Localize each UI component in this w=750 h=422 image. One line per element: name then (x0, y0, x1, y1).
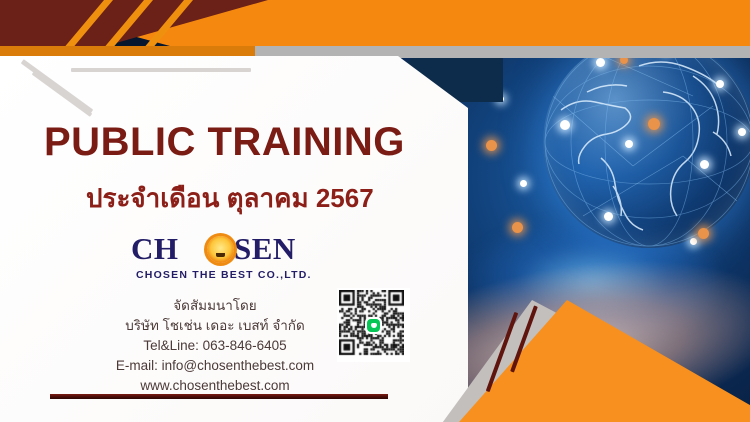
company-logo: CH SEN CHOSEN THE BEST CO.,LTD. (131, 231, 326, 287)
top-orange-underline (0, 46, 272, 57)
qr-center-badge (365, 317, 382, 334)
logo-tagline: CHOSEN THE BEST CO.,LTD. (136, 269, 312, 281)
lightbulb-icon (207, 236, 234, 263)
bottom-divider (50, 394, 388, 399)
logo-wordmark-left: CH (131, 231, 179, 267)
line-qr-code[interactable] (337, 288, 410, 362)
public-training-poster: PUBLIC TRAINING ประจำเดือน ตุลาคม 2567 C… (0, 0, 750, 422)
world-globe-icon (543, 36, 750, 248)
line-chat-icon (367, 319, 380, 332)
page-title: PUBLIC TRAINING (44, 120, 405, 165)
website-line: www.chosenthebest.com (0, 376, 430, 396)
page-subtitle: ประจำเดือน ตุลาคม 2567 (86, 178, 374, 219)
logo-wordmark-right: SEN (234, 231, 296, 267)
card-gray-stripe-3 (71, 68, 251, 72)
